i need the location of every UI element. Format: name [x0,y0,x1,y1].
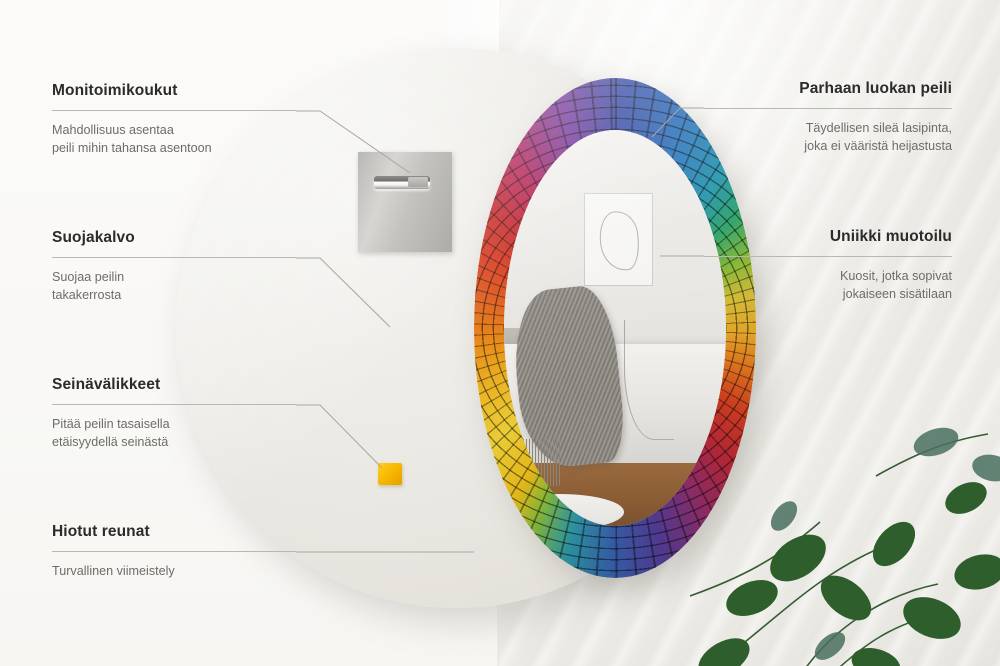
callout-desc-line-1: Mahdollisuus asentaa [52,121,296,139]
callout-desc-line-2: takakerrosta [52,286,296,304]
callout-desc-line-2: joka ei vääristä heijastusta [704,137,952,155]
callout-desc-line-1: Kuosit, jotka sopivat [704,267,952,285]
callout-desc-line-1: Suojaa peilin [52,268,296,286]
callout-desc-line-1: Turvallinen viimeistely [52,562,296,580]
leader-line-parhaan-luokan-peili [652,108,704,137]
callout-desc-line-1: Täydellisen sileä lasipinta, [704,119,952,137]
callout-monitoimikoukut: Monitoimikoukut Mahdollisuus asentaa pei… [52,82,296,157]
foliage-decoration [680,346,1000,666]
callout-desc-line-2: peili mihin tahansa asentoon [52,139,296,157]
infographic-canvas: Monitoimikoukut Mahdollisuus asentaa pei… [0,0,1000,666]
callout-title: Uniikki muotoilu [704,228,952,247]
callout-rule [52,551,296,552]
callout-rule [704,256,952,257]
callout-uniikki-muotoilu: Uniikki muotoilu Kuosit, jotka sopivat j… [704,228,952,303]
callout-title: Suojakalvo [52,229,296,248]
callout-parhaan-luokan-peili: Parhaan luokan peili Täydellisen sileä l… [704,80,952,155]
callout-rule [52,404,296,405]
callout-title: Hiotut reunat [52,523,296,542]
callout-rule [704,108,952,109]
leader-line-monitoimikoukut [296,111,410,173]
callout-suojakalvo: Suojakalvo Suojaa peilin takakerrosta [52,229,296,304]
callout-rule [52,110,296,111]
leader-line-suojakalvo [296,258,390,327]
callout-desc-line-1: Pitää peilin tasaisella [52,415,296,433]
callout-hiotut-reunat: Hiotut reunat Turvallinen viimeistely [52,523,296,580]
callout-seinavalikkeet: Seinävälikkeet Pitää peilin tasaisella e… [52,376,296,451]
leader-line-seinavalikkeet [296,405,382,468]
callout-desc-line-2: etäisyydellä seinästä [52,433,296,451]
callout-title: Parhaan luokan peili [704,80,952,99]
callout-desc-line-2: jokaiseen sisätilaan [704,285,952,303]
callout-title: Seinävälikkeet [52,376,296,395]
callout-rule [52,257,296,258]
callout-title: Monitoimikoukut [52,82,296,101]
